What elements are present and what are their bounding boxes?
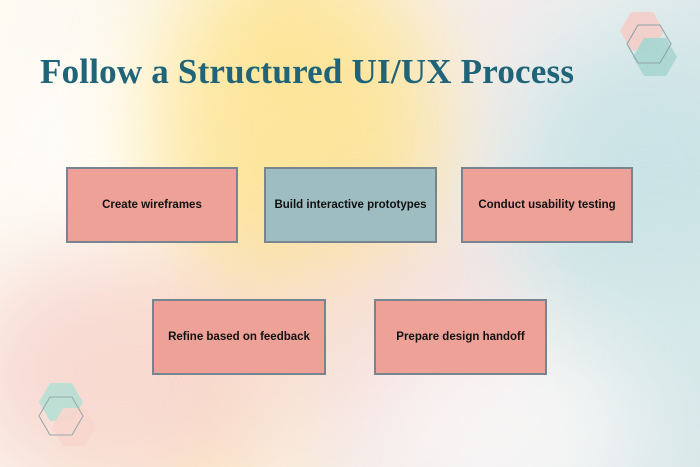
process-step-box-3[interactable]: Conduct usability testing [461, 167, 633, 243]
hexagon-cluster-top-right [606, 4, 692, 90]
hexagon-group-icon [606, 4, 692, 90]
page-title: Follow a Structured UI/UX Process [40, 52, 574, 92]
process-step-box-5[interactable]: Prepare design handoff [374, 299, 547, 375]
process-step-box-1[interactable]: Create wireframes [66, 167, 238, 243]
hexagon-group-icon [28, 379, 114, 465]
process-step-label: Refine based on feedback [168, 329, 310, 345]
process-step-box-4[interactable]: Refine based on feedback [152, 299, 326, 375]
process-step-label: Conduct usability testing [478, 197, 615, 213]
process-step-box-2[interactable]: Build interactive prototypes [264, 167, 437, 243]
process-step-label: Create wireframes [102, 197, 202, 213]
hexagon-cluster-bottom-left [28, 379, 114, 465]
slide-canvas: Follow a Structured UI/UX Process Create… [0, 0, 700, 467]
process-step-label: Prepare design handoff [396, 329, 524, 345]
process-step-label: Build interactive prototypes [274, 197, 426, 213]
